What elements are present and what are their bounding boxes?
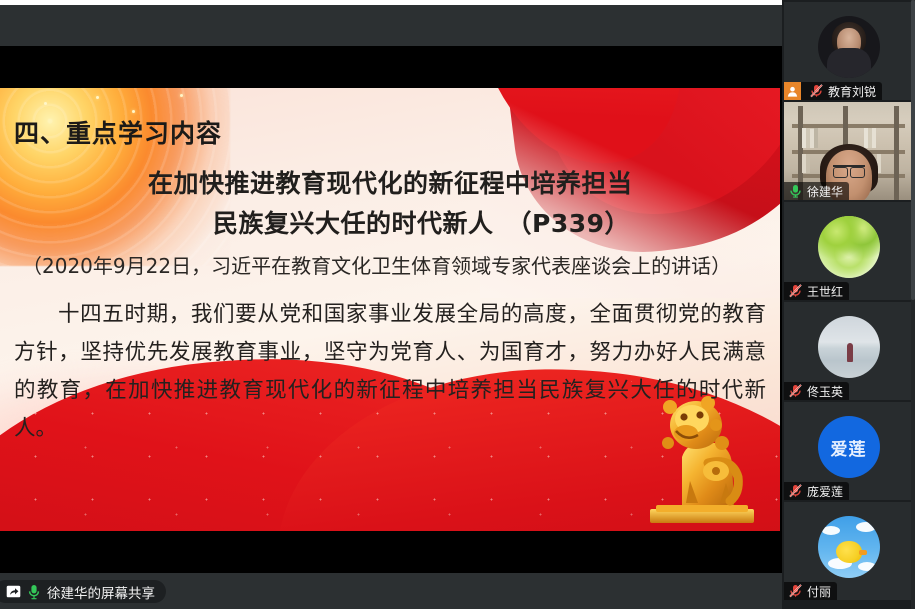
participant-tile[interactable]: 付丽: [784, 502, 913, 600]
screen-share-stage[interactable]: 四、重点学习内容 在加快推进教育现代化的新征程中培养担当 民族复兴大任的时代新人…: [0, 46, 782, 573]
mic-muted-icon: [787, 582, 803, 600]
participant-name: 付丽: [807, 583, 831, 600]
participant-tile[interactable]: 王世红: [784, 202, 913, 300]
mic-muted-icon: [787, 382, 803, 400]
mic-on-icon: [787, 182, 803, 200]
avatar: [818, 316, 880, 378]
host-person-icon: [784, 82, 801, 100]
slide-source-citation: （2020年9月22日，习近平在教育文化卫生体育领域专家代表座谈会上的讲话）: [22, 250, 731, 279]
window-chrome-bar: [0, 5, 782, 46]
tweety-sky-photo-avatar: [818, 516, 880, 578]
avatar: 爱莲: [818, 416, 880, 478]
participant-name-chip: 教育刘锐: [784, 82, 882, 100]
participant-name: 徐建华: [807, 183, 843, 200]
slide-title-line-1: 在加快推进教育现代化的新征程中培养担当: [148, 164, 633, 200]
participant-name-chip: 付丽: [784, 582, 837, 600]
participant-tile[interactable]: 爱莲 庞爱莲: [784, 402, 913, 500]
presentation-slide: 四、重点学习内容 在加快推进教育现代化的新征程中培养担当 民族复兴大任的时代新人…: [0, 88, 780, 531]
slide-text-layer: 四、重点学习内容 在加快推进教育现代化的新征程中培养担当 民族复兴大任的时代新人…: [0, 88, 780, 531]
blue-initials-avatar: 爱莲: [818, 416, 880, 478]
participant-name-chip: 徐建华: [784, 182, 849, 200]
share-status-label: 徐建华的屏幕共享: [47, 582, 155, 602]
participant-name: 庞爱莲: [807, 483, 843, 500]
slide-body-paragraph: 十四五时期，我们要从党和国家事业发展全局的高度，全面贯彻党的教育方针，坚持优先发…: [14, 296, 766, 448]
avatar: [818, 16, 880, 78]
participant-name: 王世红: [807, 283, 843, 300]
participant-name: 佟玉英: [807, 383, 843, 400]
avatar: [818, 216, 880, 278]
participant-tile[interactable]: 教育刘锐: [784, 2, 913, 100]
mic-muted-icon: [787, 482, 803, 500]
participant-panel-scrollbar[interactable]: [911, 0, 915, 609]
meeting-window: 四、重点学习内容 在加快推进教育现代化的新征程中培养担当 民族复兴大任的时代新人…: [0, 0, 915, 609]
share-status-pill[interactable]: 徐建华的屏幕共享: [0, 580, 166, 603]
person-photo-avatar: [818, 16, 880, 78]
slide-title-line-2: 民族复兴大任的时代新人 （P339）: [213, 204, 630, 240]
avatar-initials: 爱莲: [831, 435, 867, 460]
slide-heading: 四、重点学习内容: [14, 114, 222, 150]
mic-muted-icon: [808, 82, 824, 100]
participant-tile-active-speaker[interactable]: 徐建华: [784, 102, 913, 200]
participant-tile[interactable]: 佟玉英: [784, 302, 913, 400]
participant-panel[interactable]: 教育刘锐: [782, 0, 915, 609]
avatar: [818, 516, 880, 578]
participant-name-chip: 佟玉英: [784, 382, 849, 400]
participant-name-chip: 庞爱莲: [784, 482, 849, 500]
bottom-status-bar: 徐建华的屏幕共享: [0, 573, 782, 609]
screen-share-icon: [6, 585, 21, 598]
mic-on-icon: [28, 584, 40, 600]
beach-photo-avatar: [818, 316, 880, 378]
letterbox-bottom: [0, 531, 782, 573]
mic-muted-icon: [787, 282, 803, 300]
scrollbar-thumb[interactable]: [911, 0, 915, 300]
participant-name: 教育刘锐: [828, 83, 876, 100]
green-tree-photo-avatar: [818, 216, 880, 278]
participant-name-chip: 王世红: [784, 282, 849, 300]
